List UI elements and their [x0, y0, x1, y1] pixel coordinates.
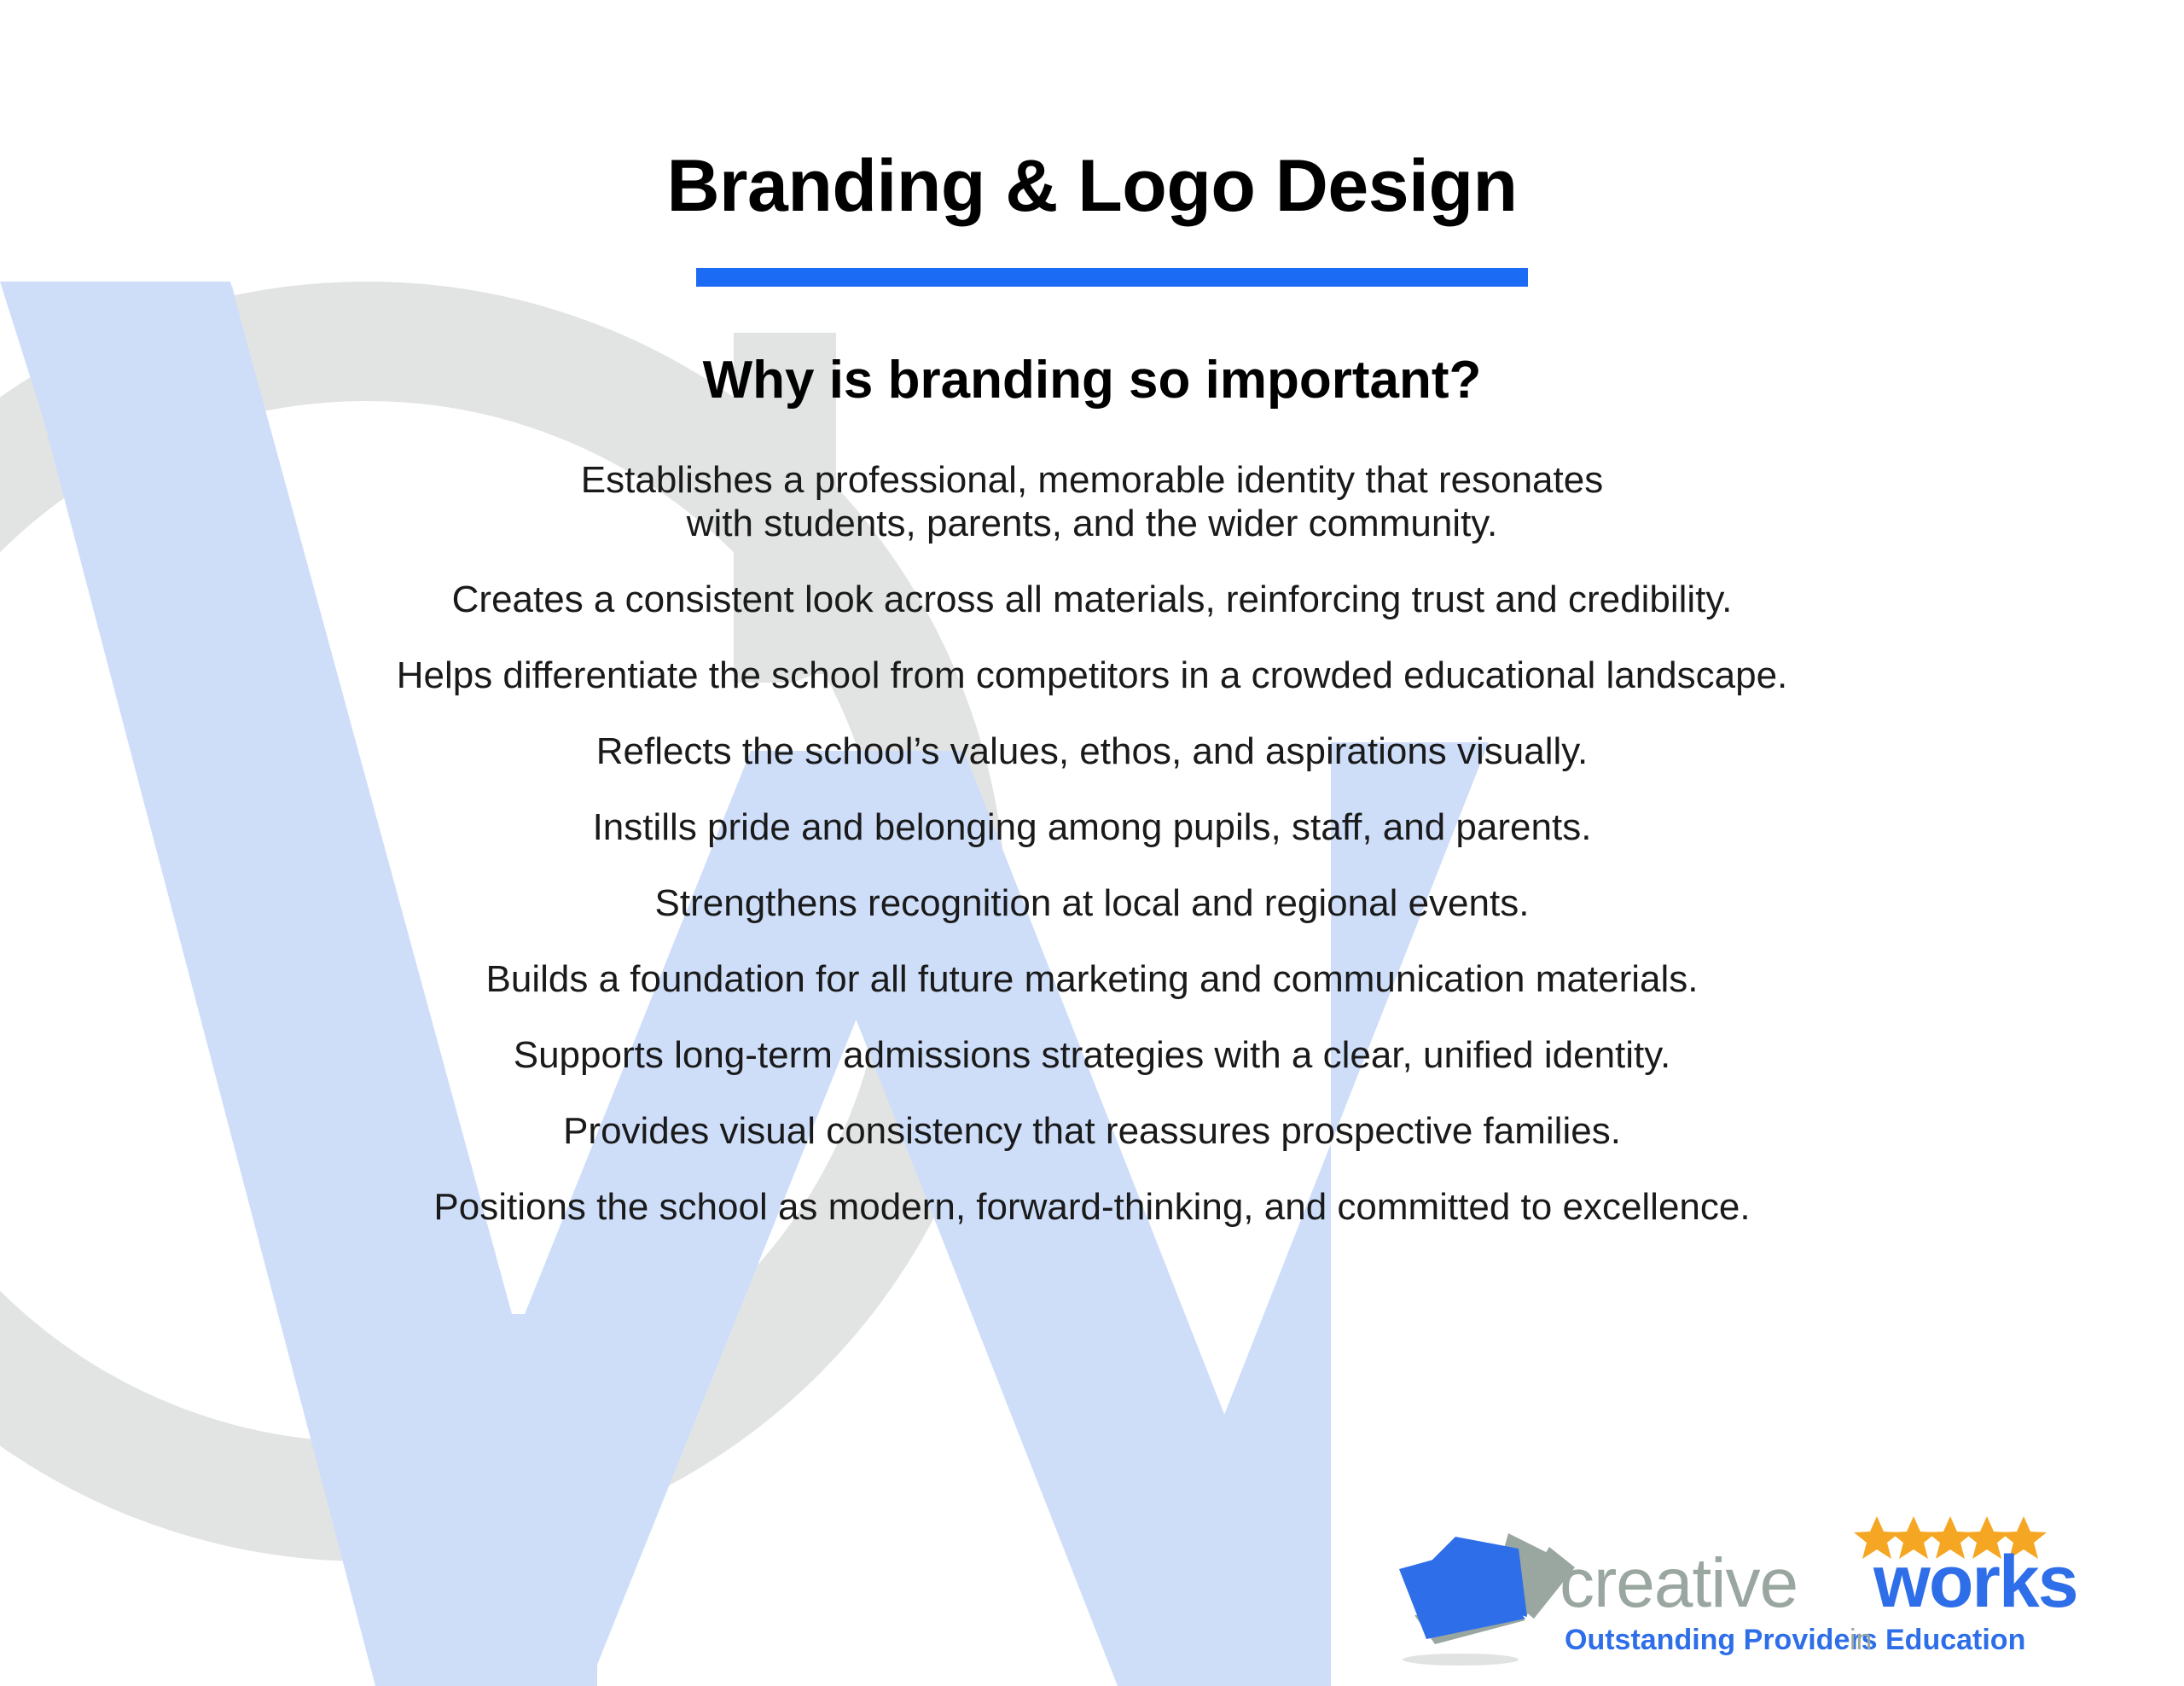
creativeworks-logo: creative works Outstanding Providers in …: [1382, 1514, 2175, 1672]
list-item: Creates a consistent look across all mat…: [145, 578, 2039, 621]
slide-content: Branding & Logo Design Why is branding s…: [0, 0, 2184, 1686]
list-item: Helps differentiate the school from comp…: [145, 654, 2039, 697]
list-item: Instills pride and belonging among pupil…: [145, 805, 2039, 849]
list-item: Establishes a professional, memorable id…: [145, 458, 2039, 545]
slide-canvas: Branding & Logo Design Why is branding s…: [0, 0, 2184, 1686]
benefits-list: Establishes a professional, memorable id…: [145, 458, 2039, 1229]
logo-tagline-in: in: [1850, 1624, 1872, 1656]
list-item: Reflects the school’s values, ethos, and…: [145, 730, 2039, 773]
list-item: Provides visual consistency that reassur…: [145, 1109, 2039, 1153]
title-underline-rule: [696, 268, 1528, 287]
list-item: Supports long-term admissions strategies…: [145, 1033, 2039, 1077]
page-title: Branding & Logo Design: [0, 149, 2184, 223]
logo-tagline-education: Education: [1885, 1624, 2025, 1656]
fanned-book-icon: [1399, 1533, 1575, 1666]
list-item: Strengthens recognition at local and reg…: [145, 881, 2039, 925]
list-item: Builds a foundation for all future marke…: [145, 957, 2039, 1001]
section-heading: Why is branding so important?: [0, 354, 2184, 407]
list-item: Positions the school as modern, forward-…: [145, 1185, 2039, 1229]
logo-wordmark-creative: creative: [1560, 1544, 1798, 1622]
logo-wordmark-works: works: [1873, 1541, 2077, 1623]
logo-tagline-outstanding-providers: Outstanding Providers: [1565, 1624, 1878, 1656]
